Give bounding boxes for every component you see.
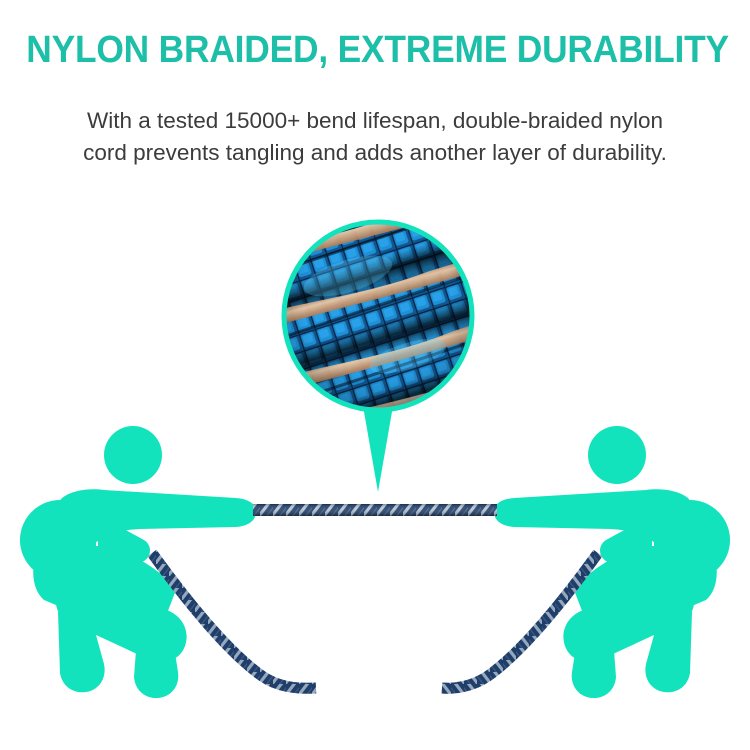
right-figure-head — [588, 426, 646, 484]
rope-upper-segment — [253, 504, 497, 516]
right-figure-front-leg — [572, 624, 616, 698]
magnifier-callout — [278, 216, 478, 501]
person-pulling-right — [494, 426, 730, 698]
left-figure-head — [104, 426, 162, 484]
left-figure-front-leg — [134, 624, 178, 698]
person-pulling-left — [20, 426, 256, 698]
promo-banner: NYLON BRAIDED, EXTREME DURABILITY With a… — [0, 0, 750, 750]
